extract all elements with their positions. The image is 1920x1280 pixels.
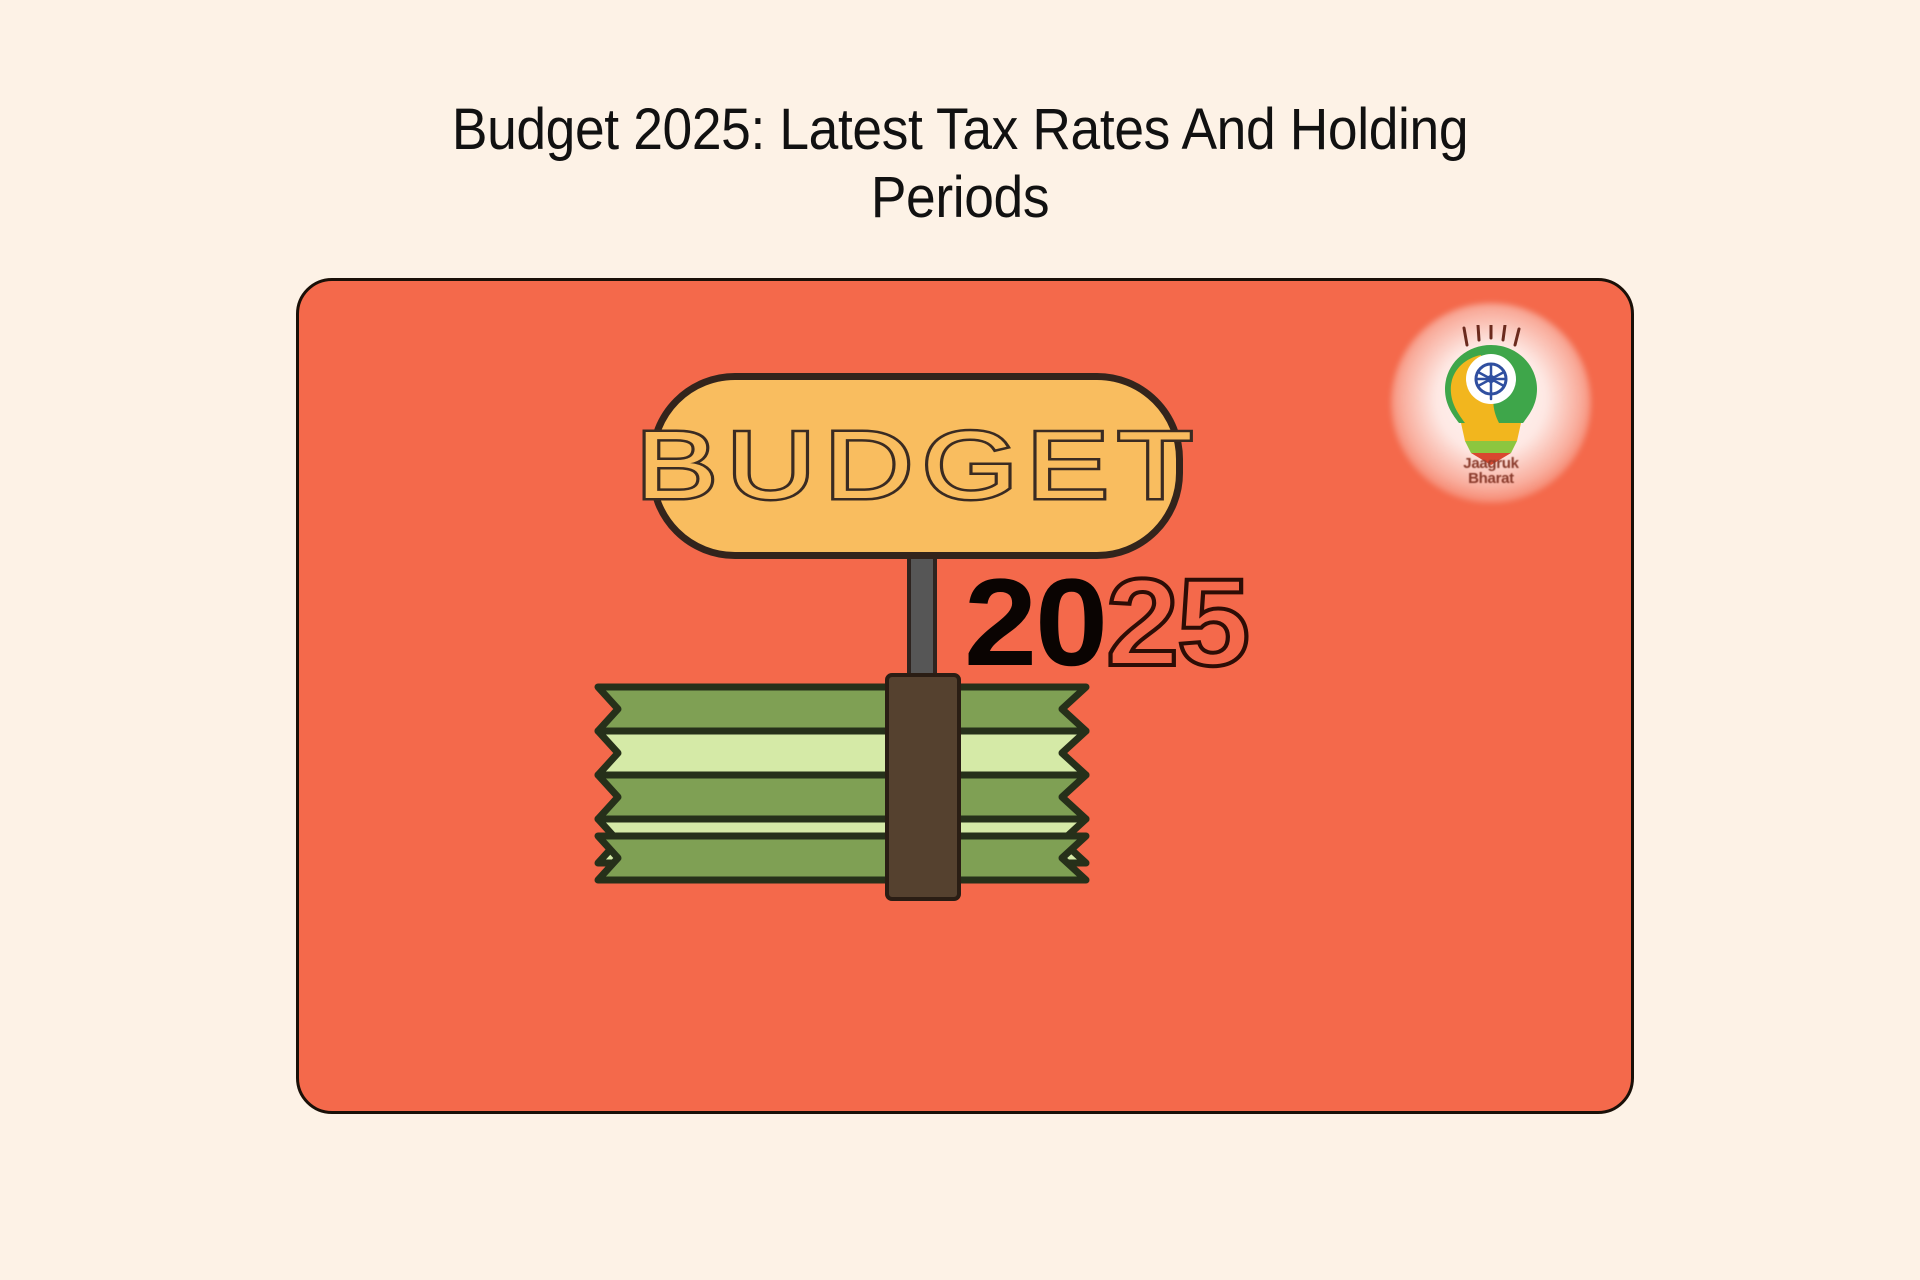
logo-wordmark: Jaagruk Bharat [1421,456,1561,488]
page-root: Budget 2025: Latest Tax Rates And Holdin… [0,0,1920,1280]
page-title-wrapper: Budget 2025: Latest Tax Rates And Holdin… [300,96,1620,232]
budget-sign-board: BUDGET [649,373,1183,559]
logo-wordmark-line-2: Bharat [1421,471,1561,487]
year-label: 2025 [964,561,1248,685]
page-title-line-1: Budget 2025: Latest Tax Rates And Holdin… [452,97,1468,162]
page-title-line-2: Periods [871,165,1049,230]
logo-artwork: Jaagruk Bharat [1421,325,1561,481]
sign-post-base [885,673,961,901]
brand-logo: Jaagruk Bharat [1395,307,1587,499]
year-hollow-part: 25 [1106,554,1248,692]
year-solid-part: 20 [964,554,1106,692]
money-stack-illustration [592,681,1092,886]
budget-sign-label: BUDGET [636,418,1202,514]
page-title: Budget 2025: Latest Tax Rates And Holdin… [353,96,1567,232]
lightbulb-brain-icon [1421,325,1561,465]
hero-image-card: BUDGET 2025 [296,278,1634,1114]
logo-wordmark-line-1: Jaagruk [1421,456,1561,472]
